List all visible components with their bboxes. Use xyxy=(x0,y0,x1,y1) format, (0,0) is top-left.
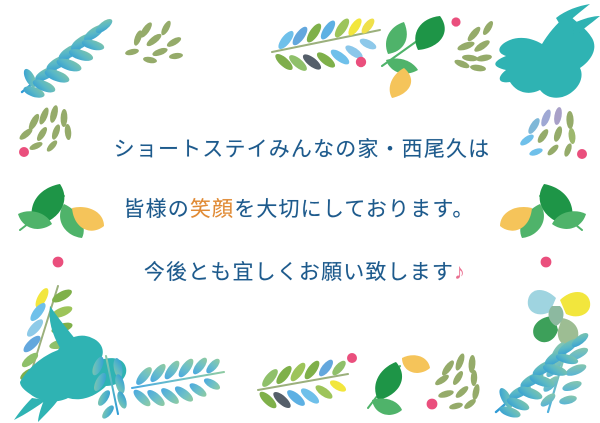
music-note-icon: ♪ xyxy=(454,259,466,284)
message-line-2-part-1: 皆様の xyxy=(123,198,189,221)
greeting-card: ショートステイみんなの家・西尾久は 皆様の笑顔を大切にしております。 今後とも宜… xyxy=(0,0,600,423)
message-line-3-text: 今後とも宜しくお願い致します xyxy=(144,261,454,284)
message-line-2-part-2: を大切にしております。 xyxy=(234,198,474,221)
message-line-2-highlight: 笑顔 xyxy=(190,198,234,221)
message-line-2: 皆様の笑顔を大切にしております。 xyxy=(123,197,474,223)
message-block: ショートステイみんなの家・西尾久は 皆様の笑顔を大切にしております。 今後とも宜… xyxy=(0,0,600,423)
message-line-1: ショートステイみんなの家・西尾久は xyxy=(114,137,491,163)
message-line-3: 今後とも宜しくお願い致します♪ xyxy=(144,258,466,286)
